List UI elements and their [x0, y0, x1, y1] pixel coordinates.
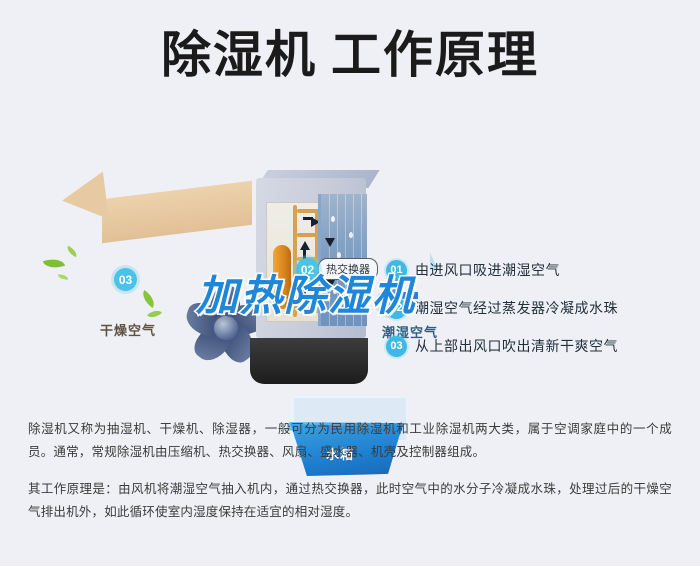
step-text: 从上部出风口吹出清新干爽空气	[415, 336, 618, 356]
flow-arrow-down	[325, 238, 335, 247]
step-item: 02 潮湿空气经过蒸发器冷凝成水珠	[386, 296, 686, 320]
title-part-2: 工作原理	[331, 27, 539, 83]
dry-air-arrow	[62, 170, 252, 245]
leaf-icon	[65, 246, 79, 257]
step-text: 潮湿空气经过蒸发器冷凝成水珠	[415, 298, 618, 318]
leaf-icon	[58, 274, 68, 281]
title-part-1: 除湿机	[161, 27, 317, 83]
refrigerant-pipe	[293, 205, 297, 317]
dry-air-arrow-shaft	[102, 181, 252, 243]
step-badge: 03	[386, 336, 407, 357]
description-block: 除湿机又称为抽湿机、干燥机、除湿器，一般可分为民用除湿机和工业除湿机两大类，属于…	[28, 418, 672, 538]
water-droplet-icon	[349, 232, 353, 238]
step-item: 03 从上部出风口吹出清新干爽空气	[386, 334, 686, 358]
page-title: 除湿机工作原理	[161, 26, 539, 84]
description-paragraph-1: 除湿机又称为抽湿机、干燥机、除湿器，一般可分为民用除湿机和工业除湿机两大类，属于…	[28, 418, 672, 464]
page-title-area: 除湿机工作原理	[0, 26, 700, 84]
compressor-cylinder	[273, 245, 291, 309]
step-badge: 01	[386, 260, 407, 281]
water-droplet-icon	[351, 304, 355, 310]
description-paragraph-2: 其工作原理是：由风机将潮湿空气抽入机内，通过热交换器，此时空气中的水分子冷凝成水…	[28, 478, 672, 524]
callout-pointer-inner	[345, 274, 353, 282]
dry-air-arrow-head	[59, 171, 109, 224]
dry-air-label: 干燥空气	[100, 320, 156, 339]
step-item: 01 由进风口吸进潮湿空气	[386, 258, 686, 282]
heat-exchanger-callout: 热交换器	[318, 258, 378, 280]
machine-base	[250, 338, 368, 384]
flow-arrow-up	[300, 241, 310, 250]
moist-air-flow-swoosh	[430, 130, 700, 270]
fan-hub	[212, 314, 240, 342]
flow-arrow-stem	[303, 217, 313, 220]
flow-arrow-down	[325, 280, 335, 289]
step-badge: 02	[386, 298, 407, 319]
water-droplet-icon	[331, 216, 335, 222]
step-text: 由进风口吸进潮湿空气	[415, 260, 560, 280]
leaf-icon	[139, 290, 159, 308]
leaf-icon	[43, 255, 65, 272]
infographic-page: 除湿机工作原理 干燥空气	[0, 0, 700, 566]
steps-list: 01 由进风口吸进潮湿空气 02 潮湿空气经过蒸发器冷凝成水珠 03 从上部出风…	[386, 258, 686, 372]
diagram-badge-03: 03	[114, 268, 137, 291]
diagram-badge-02: 02	[296, 258, 319, 281]
